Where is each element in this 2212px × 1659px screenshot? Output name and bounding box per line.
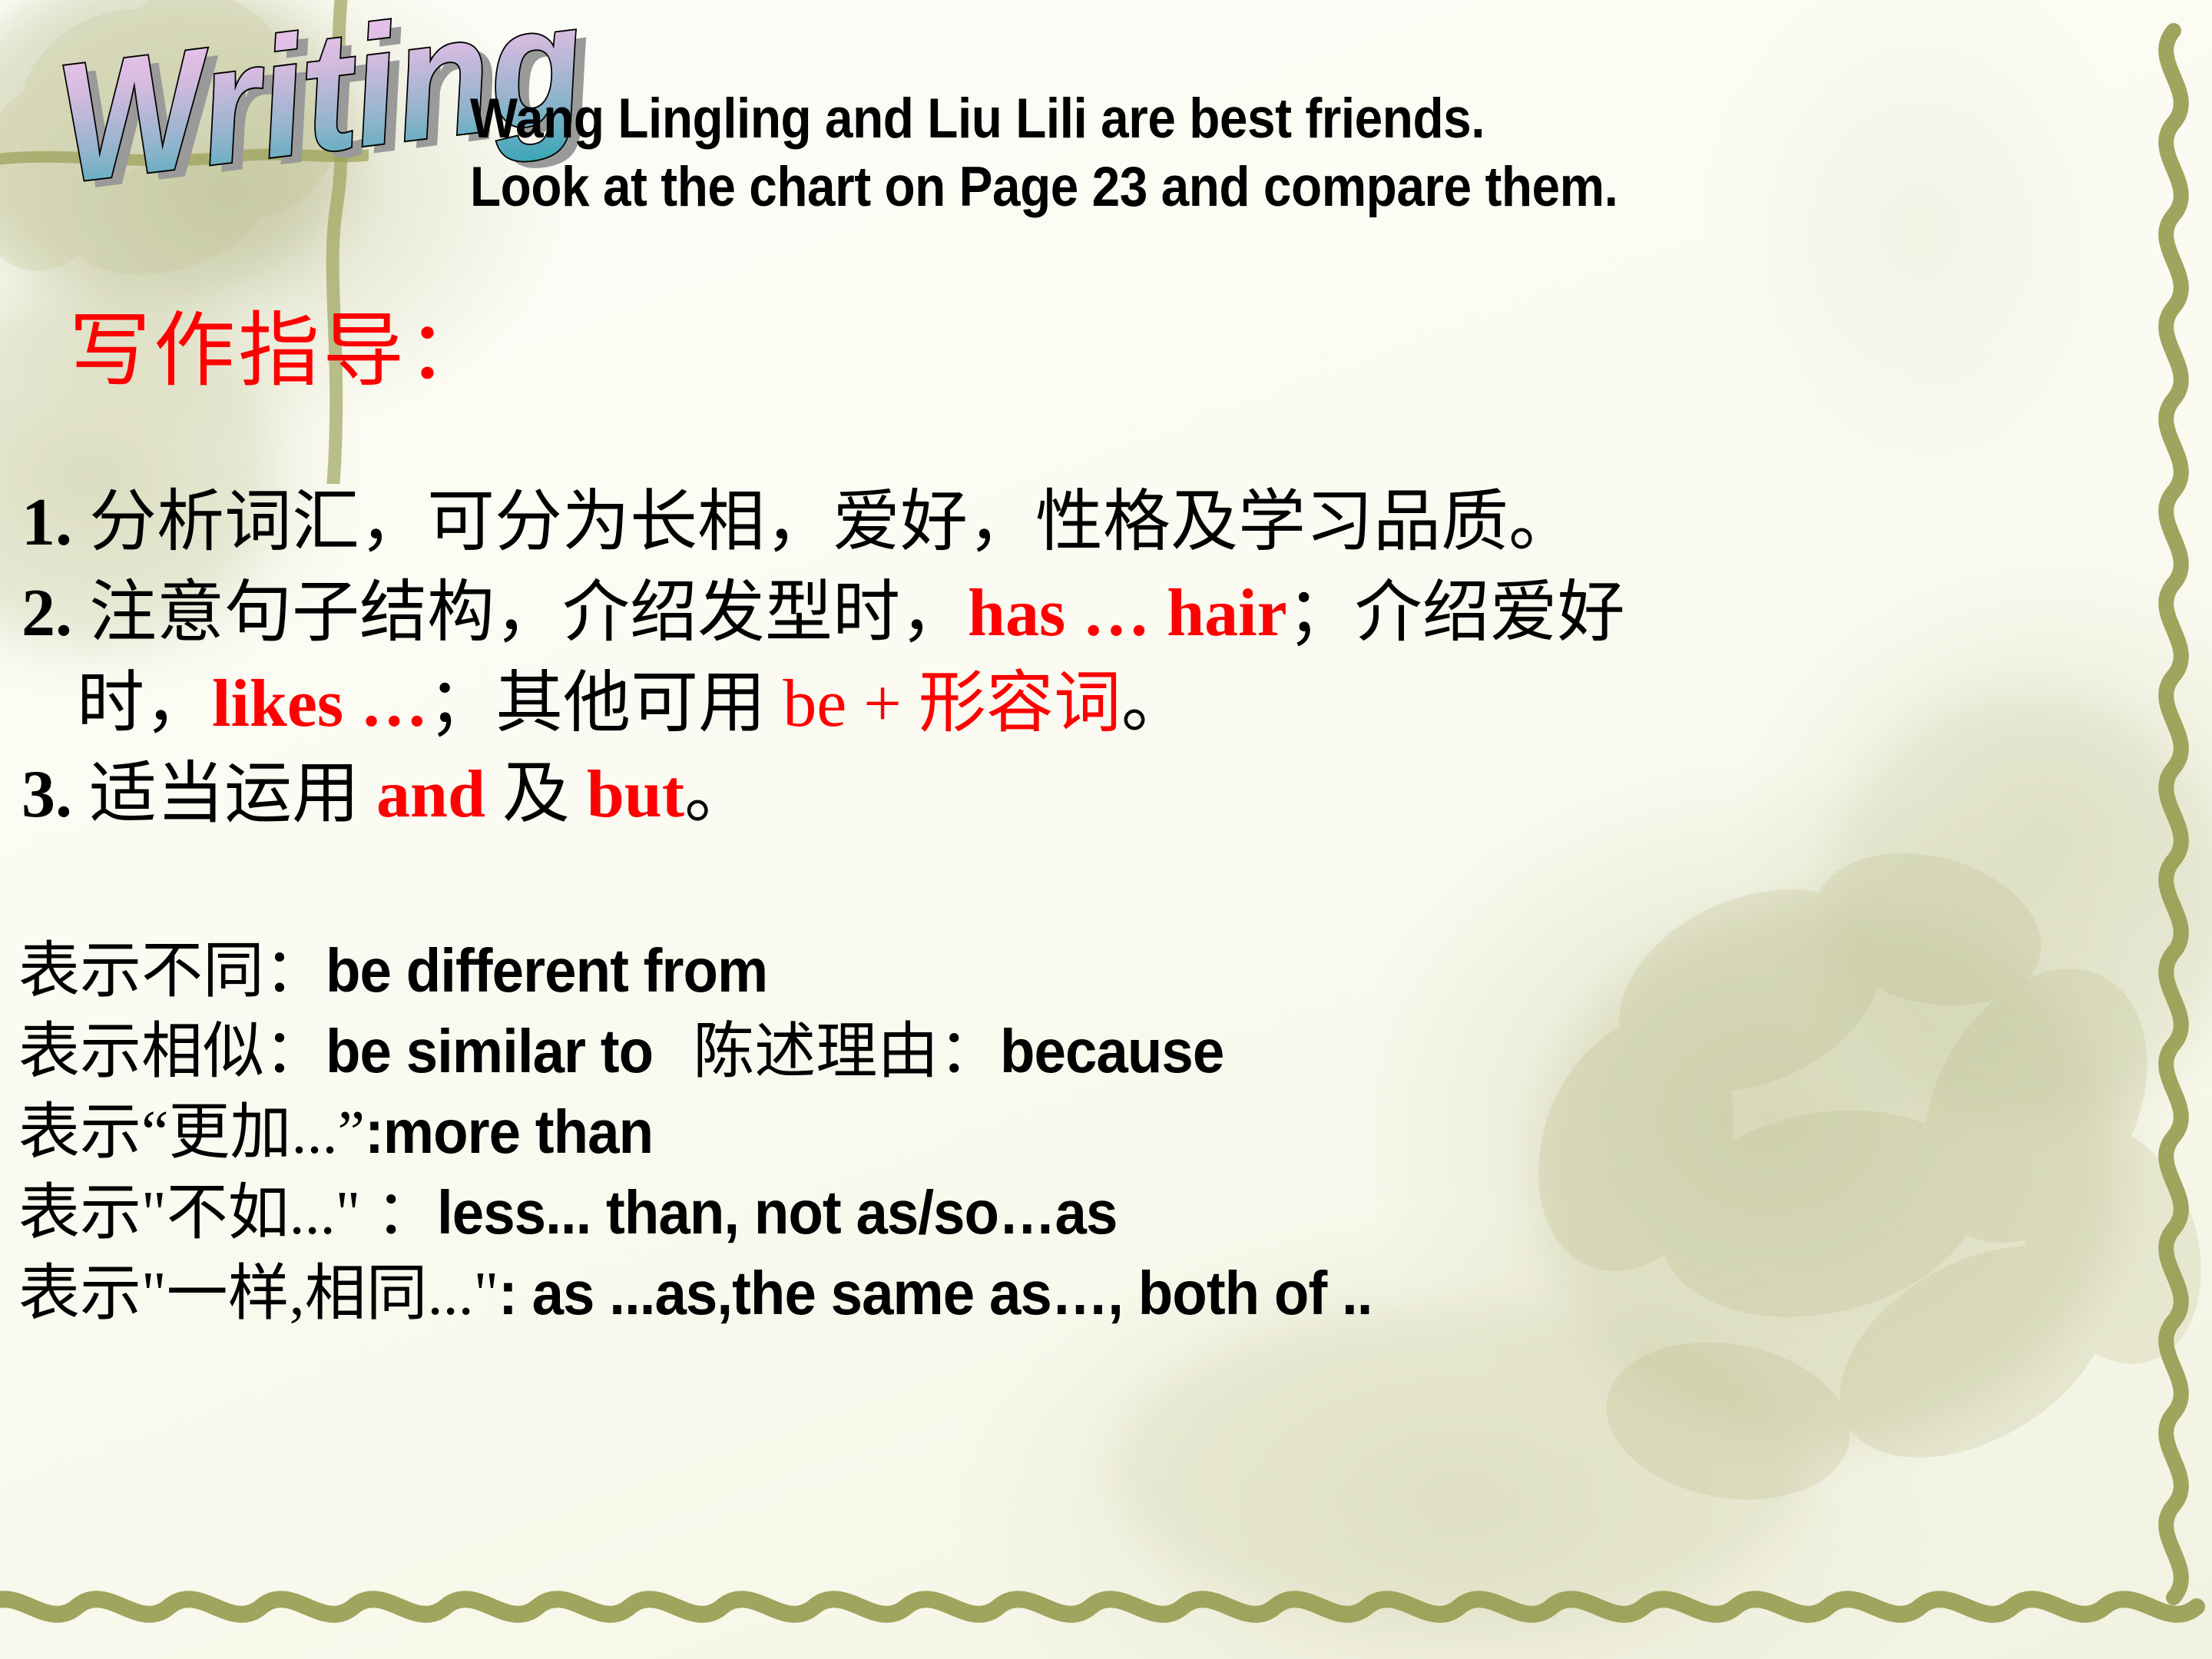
guidance-text: 适当运用	[72, 757, 376, 832]
header-line-2: Look at the chart on Page 23 and compare…	[470, 153, 2025, 221]
section-title-writing-guide: 写作指导：	[69, 284, 492, 402]
guidance-text: 及	[485, 757, 587, 832]
guidance-text: 。	[1121, 667, 1189, 741]
vine-border-bottom	[0, 1551, 2212, 1659]
guidance-line: 时，likes …；其他可用 be + 形容词。	[22, 659, 2141, 750]
expression-phrase-en: : as ...as,the same as…, both of ..	[498, 1253, 1373, 1333]
guidance-number: 1.	[22, 485, 72, 560]
expression-label-cn-2: 陈述理由：	[677, 1018, 1000, 1086]
guidance-text: ；介绍爱好	[1287, 576, 1625, 651]
guidance-line: 2. 注意句子结构，介绍发型时，has … hair；介绍爱好	[22, 568, 2141, 659]
guidance-list: 1. 分析词汇，可分为长相，爱好，性格及学习品质。2. 注意句子结构，介绍发型时…	[22, 478, 2141, 840]
expression-line: 表示不同： be different from	[18, 931, 2200, 1012]
expression-label-cn: 表示不同：	[18, 938, 326, 1005]
guidance-line: 1. 分析词汇，可分为长相，爱好，性格及学习品质。	[22, 478, 2141, 568]
expression-label-cn: 表示"不如..." ：	[18, 1180, 437, 1247]
expression-line: 表示“更加...” :more than	[18, 1092, 2200, 1173]
guidance-keyword: but	[587, 757, 684, 832]
slide-canvas: Writing Writing Wang Lingling and Liu Li…	[0, 0, 2212, 1659]
guidance-keyword: has … hair	[968, 576, 1287, 651]
expression-label-cn: 表示"一样,相同..."	[18, 1260, 498, 1328]
guidance-keyword: be + 形容词	[783, 667, 1121, 741]
expression-phrase-en-2: because	[1000, 1012, 1224, 1091]
guidance-text: 分析词汇，可分为长相，爱好，性格及学习品质。	[72, 485, 1576, 560]
expression-label-cn: 表示“更加...”	[18, 1099, 365, 1167]
guidance-text: 时，	[77, 667, 212, 741]
expression-line: 表示相似： be similar to 陈述理由：because	[18, 1012, 2200, 1092]
expression-line: 表示"不如..." ： less... than, not as/so…as	[18, 1173, 2200, 1253]
guidance-keyword: and	[376, 757, 485, 832]
guidance-keyword: likes …	[212, 667, 428, 741]
background-blob-bottom	[1114, 1306, 1805, 1628]
guidance-line: 3. 适当运用 and 及 but。	[22, 750, 2141, 840]
guidance-text: 注意句子结构，介绍发型时，	[72, 576, 968, 651]
guidance-number: 2.	[22, 576, 72, 651]
expression-phrase-en: be similar to	[326, 1012, 653, 1091]
expression-phrase-en: be different from	[326, 931, 767, 1011]
header-line-1: Wang Lingling and Liu Lili are best frie…	[470, 84, 2025, 153]
guidance-text: 。	[684, 757, 752, 832]
expression-list: 表示不同： be different from表示相似： be similar …	[18, 931, 2200, 1334]
expression-line: 表示"一样,相同..." : as ...as,the same as…, bo…	[18, 1253, 2200, 1334]
guidance-text: ；其他可用	[428, 667, 783, 741]
header-instruction: Wang Lingling and Liu Lili are best frie…	[470, 84, 2025, 221]
expression-phrase-en: less... than, not as/so…as	[437, 1173, 1117, 1253]
expression-phrase-en: :more than	[365, 1092, 653, 1172]
guidance-number: 3.	[22, 757, 72, 832]
expression-label-cn: 表示相似：	[18, 1018, 326, 1086]
